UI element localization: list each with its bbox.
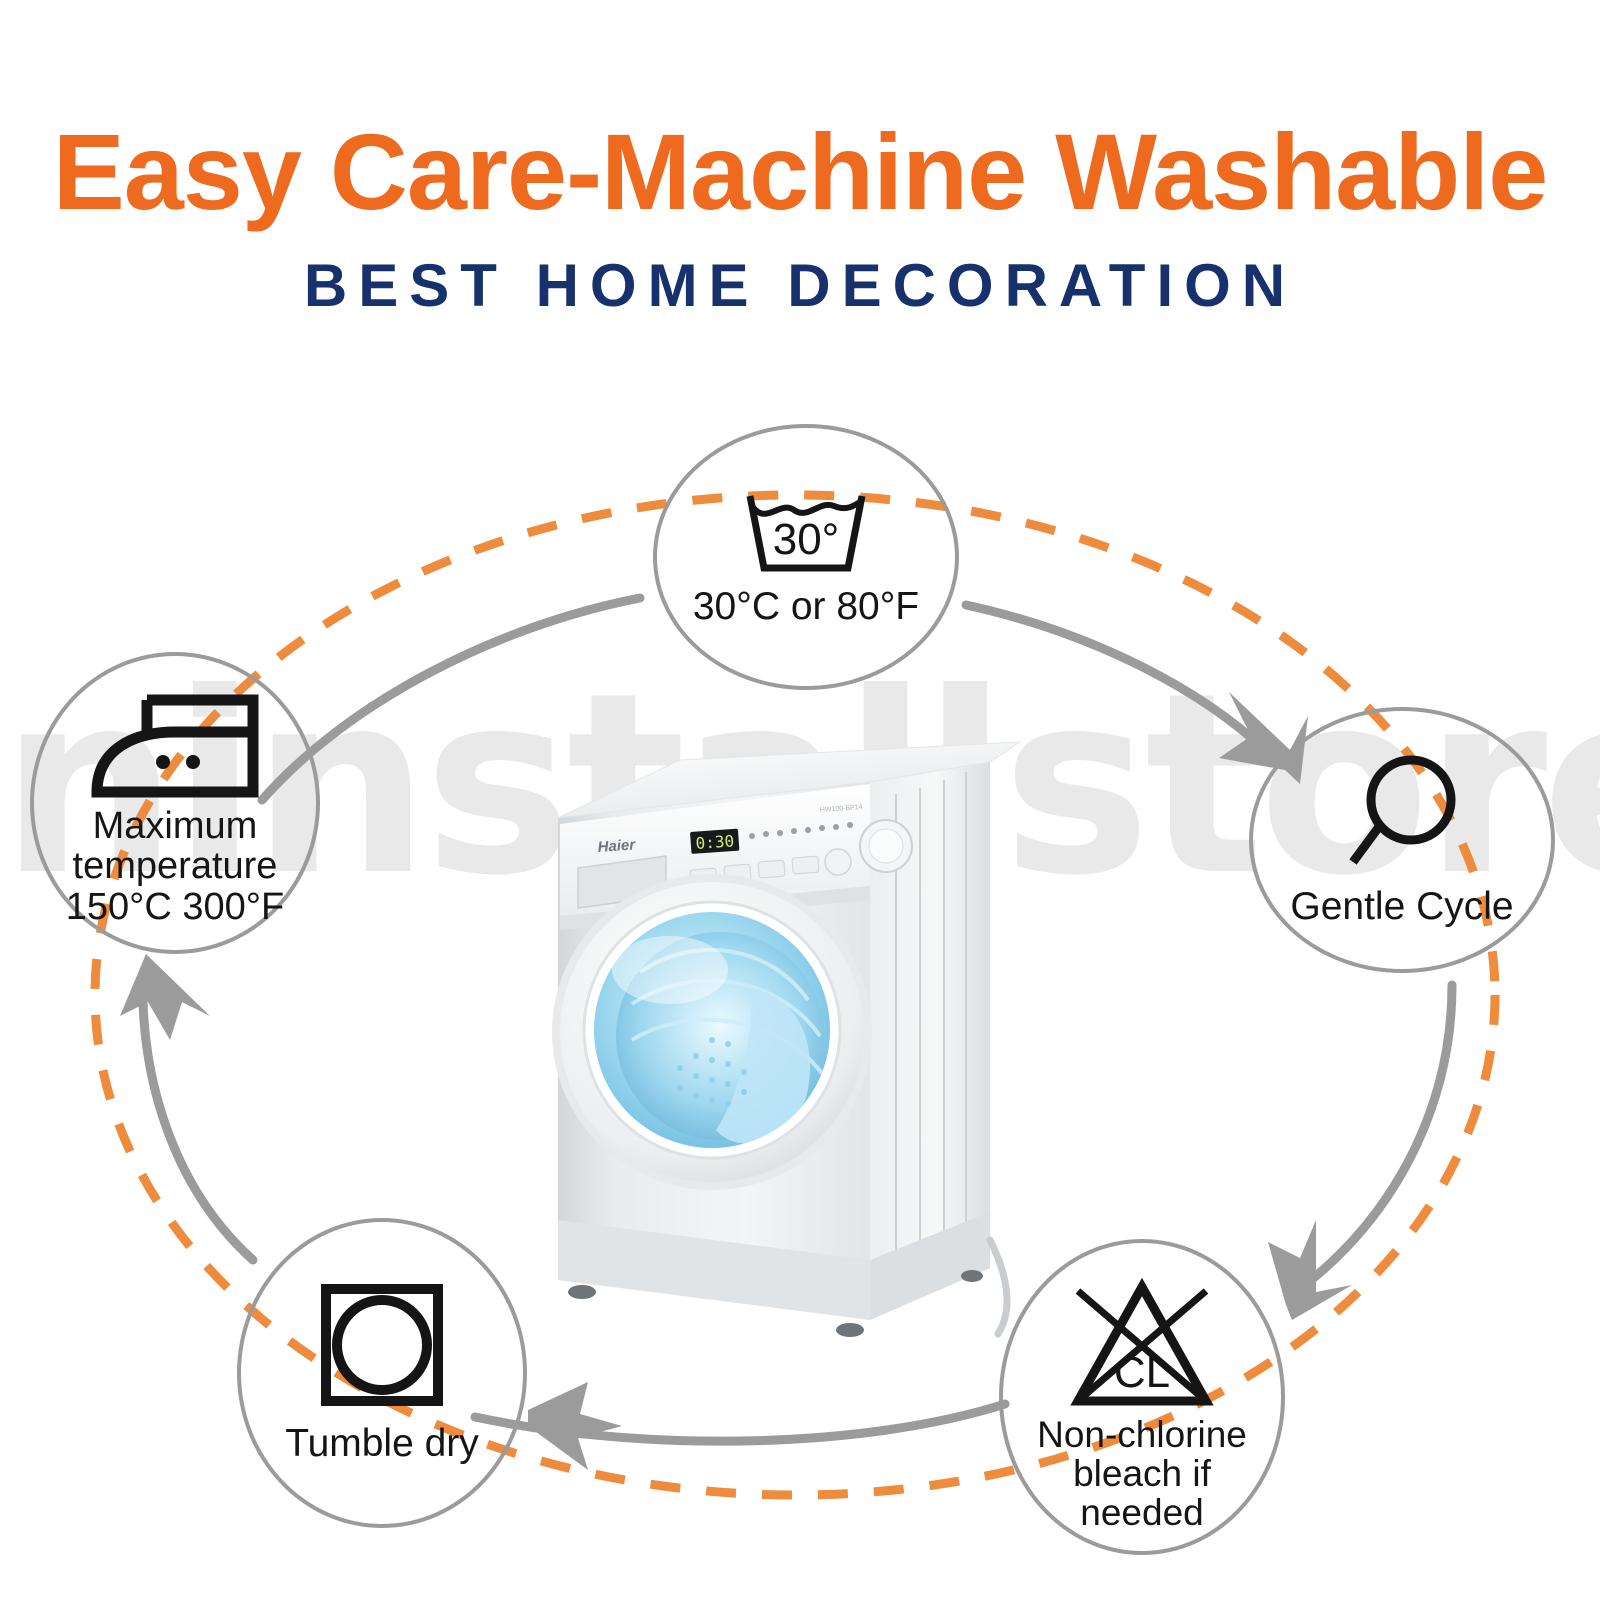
machine-hose <box>990 1240 1007 1334</box>
washing-machine-image: Haier 0:30 HW100-BP14 <box>520 720 1060 1340</box>
node-max-iron-temperature-label: Maximum temperature 150°C 300°F <box>66 806 284 927</box>
gentle-cycle-icon <box>1341 752 1463 872</box>
node-non-chlorine-bleach[interactable]: CL Non-chlorine bleach if needed <box>999 1239 1285 1555</box>
iron-two-dots-icon <box>89 692 261 802</box>
node-tumble-dry-label: Tumble dry <box>285 1423 479 1464</box>
arrowhead-to-iron <box>120 954 210 1040</box>
header: Easy Care-Machine Washable BEST HOME DEC… <box>0 0 1600 316</box>
node-max-iron-temperature[interactable]: Maximum temperature 150°C 300°F <box>30 652 320 954</box>
arrowhead-to-tumble <box>528 1382 622 1470</box>
infographic-canvas: Easy Care-Machine Washable BEST HOME DEC… <box>0 0 1600 1600</box>
display-value: 0:30 <box>695 831 735 853</box>
tumble-dry-icon <box>318 1281 446 1409</box>
brand-label: Haier <box>597 836 637 856</box>
node-tumble-dry[interactable]: Tumble dry <box>237 1218 527 1528</box>
node-wash-temperature[interactable]: 30° 30°C or 80°F <box>653 424 959 690</box>
small-knob[interactable] <box>825 849 851 875</box>
node-gentle-cycle-label: Gentle Cycle <box>1290 886 1513 927</box>
page-subtitle: BEST HOME DECORATION <box>0 226 1600 316</box>
bleach-cl-text: CL <box>1114 1348 1170 1397</box>
machine-foot-left <box>568 1285 596 1299</box>
page-title: Easy Care-Machine Washable <box>0 0 1600 226</box>
node-gentle-cycle[interactable]: Gentle Cycle <box>1249 707 1555 973</box>
node-non-chlorine-bleach-label: Non-chlorine bleach if needed <box>1037 1415 1247 1533</box>
wash-temp-value: 30° <box>773 515 840 564</box>
wash-tub-30-icon: 30° <box>740 486 872 578</box>
machine-foot-back <box>961 1270 983 1282</box>
node-wash-temperature-label: 30°C or 80°F <box>693 586 919 627</box>
machine-foot-right <box>836 1323 864 1337</box>
no-chlorine-bleach-icon: CL <box>1066 1277 1218 1413</box>
